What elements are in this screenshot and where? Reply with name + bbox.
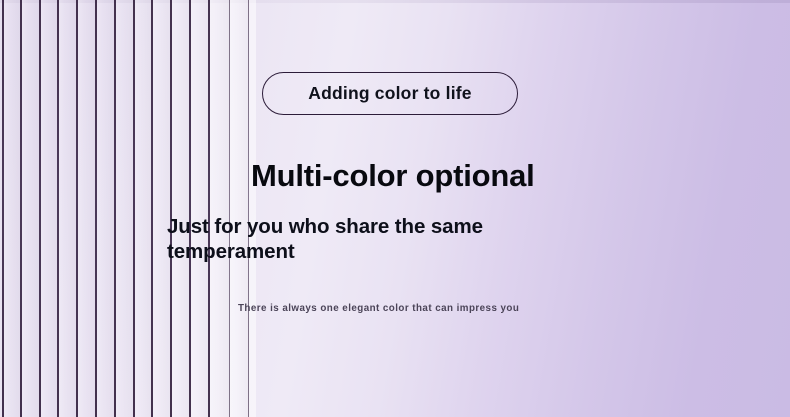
slat-face — [2, 0, 20, 417]
slat-line — [2, 0, 4, 417]
slat-line — [208, 0, 210, 417]
slat-face — [114, 0, 133, 417]
vertical-slat-pattern — [0, 0, 256, 417]
body-copy: There is always one elegant color that c… — [238, 301, 548, 317]
slat-face — [76, 0, 95, 417]
slat-line — [39, 0, 41, 417]
slat-line — [20, 0, 22, 417]
slat-line — [170, 0, 172, 417]
subheadline-line-2: temperament — [167, 240, 295, 263]
slat-face — [151, 0, 170, 417]
slat-face — [133, 0, 151, 417]
page-title: Multi-color optional — [251, 158, 535, 194]
slat-line — [57, 0, 59, 417]
slat-line — [151, 0, 153, 417]
slat-sheen-overlay — [0, 0, 256, 417]
slat-line — [133, 0, 135, 417]
promo-banner: Adding color to life Multi-color optiona… — [0, 0, 790, 417]
top-edge-shading — [0, 0, 790, 3]
pill-button-label: Adding color to life — [308, 83, 471, 104]
slat-line — [95, 0, 97, 417]
slat-face — [229, 0, 248, 417]
slat-face — [170, 0, 189, 417]
slat-line — [189, 0, 191, 417]
slat-face — [208, 0, 229, 417]
body-copy-line-2: you — [501, 303, 520, 314]
slat-line — [114, 0, 116, 417]
slat-line — [248, 0, 249, 417]
slat-face — [189, 0, 208, 417]
slat-face — [57, 0, 76, 417]
subheadline: Just for you who share the same temperam… — [167, 214, 527, 264]
slat-face — [39, 0, 57, 417]
subheadline-line-1: Just for you who share the same — [167, 215, 483, 238]
adding-color-to-life-button[interactable]: Adding color to life — [262, 72, 518, 115]
slat-face — [20, 0, 39, 417]
body-copy-line-1: There is always one elegant color that c… — [238, 303, 497, 314]
slat-line — [76, 0, 78, 417]
slat-line — [229, 0, 230, 417]
slat-face — [95, 0, 114, 417]
